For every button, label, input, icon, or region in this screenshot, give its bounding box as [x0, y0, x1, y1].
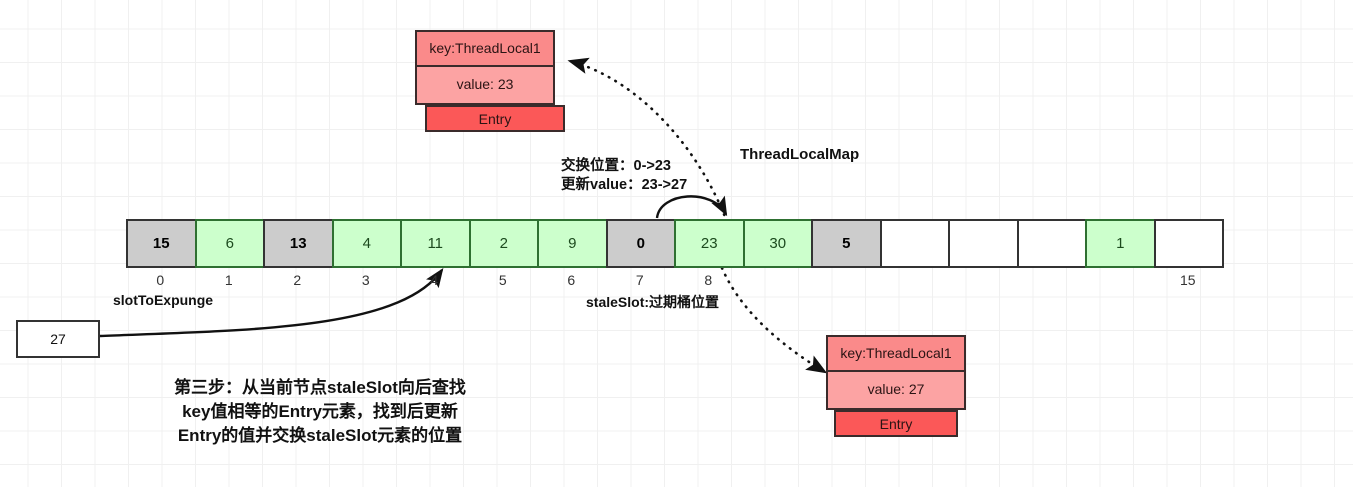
dotted-link-cell8-to-bottom-entry — [722, 268, 825, 372]
table-cell-7: 0 — [606, 219, 677, 268]
table-cell-14: 1 — [1085, 219, 1156, 268]
diagram-canvas: key:ThreadLocal1 value: 23 Entry key:Thr… — [0, 0, 1353, 487]
entry-top-value: value: 23 — [415, 67, 555, 105]
caption-line-3: Entry的值并交换staleSlot元素的位置 — [110, 424, 530, 448]
table-cell-4: 11 — [400, 219, 471, 268]
table-cell-12 — [948, 219, 1019, 268]
index-label-4: 4 — [414, 272, 454, 288]
entry-box-bottom: key:ThreadLocal1 value: 27 Entry — [826, 335, 966, 437]
table-cell-0: 15 — [126, 219, 197, 268]
index-label-6: 6 — [551, 272, 591, 288]
pending-value-box: 27 — [16, 320, 100, 358]
index-label-5: 5 — [483, 272, 523, 288]
pointer-label-staleslot: staleSlot:过期桶位置 — [586, 292, 719, 312]
entry-bottom-label: Entry — [834, 410, 958, 437]
table-cell-5: 2 — [469, 219, 540, 268]
entry-bottom-value: value: 27 — [826, 372, 966, 410]
swap-arc-slot7-to-slot8 — [657, 196, 726, 218]
table-cell-6: 9 — [537, 219, 608, 268]
table-cell-11 — [880, 219, 951, 268]
threadlocalmap-label: ThreadLocalMap — [740, 146, 859, 163]
table-cell-8: 23 — [674, 219, 745, 268]
table-cell-1: 6 — [195, 219, 266, 268]
threadlocalmap-table: 15613411290233051 — [126, 219, 1224, 268]
table-cell-13 — [1017, 219, 1088, 268]
entry-bottom-key: key:ThreadLocal1 — [826, 335, 966, 372]
swap-note-line-1: 交换位置：0->23 — [561, 157, 716, 176]
index-label-1: 1 — [209, 272, 249, 288]
index-label-8: 8 — [688, 272, 728, 288]
index-label-3: 3 — [346, 272, 386, 288]
dotted-link-cell8-to-top-entry — [570, 61, 727, 222]
swap-note: 交换位置：0->23 更新value：23->27 — [561, 157, 716, 194]
index-label-7: 7 — [620, 272, 660, 288]
index-label-0: 0 — [140, 272, 180, 288]
index-label-15: 15 — [1168, 272, 1208, 288]
index-label-2: 2 — [277, 272, 317, 288]
entry-box-top: key:ThreadLocal1 value: 23 Entry — [415, 30, 555, 132]
pointer-label-slottoexpunge: slotToExpunge — [113, 292, 213, 308]
table-cell-2: 13 — [263, 219, 334, 268]
entry-top-key: key:ThreadLocal1 — [415, 30, 555, 67]
table-cell-15 — [1154, 219, 1225, 268]
entry-top-label: Entry — [425, 105, 565, 132]
table-cell-10: 5 — [811, 219, 882, 268]
table-cell-9: 30 — [743, 219, 814, 268]
table-cell-3: 4 — [332, 219, 403, 268]
caption-line-2: key值相等的Entry元素，找到后更新 — [110, 400, 530, 424]
caption-line-1: 第三步：从当前节点staleSlot向后查找 — [110, 376, 530, 400]
step-caption: 第三步：从当前节点staleSlot向后查找 key值相等的Entry元素，找到… — [110, 376, 530, 448]
swap-note-line-2: 更新value：23->27 — [561, 176, 716, 195]
